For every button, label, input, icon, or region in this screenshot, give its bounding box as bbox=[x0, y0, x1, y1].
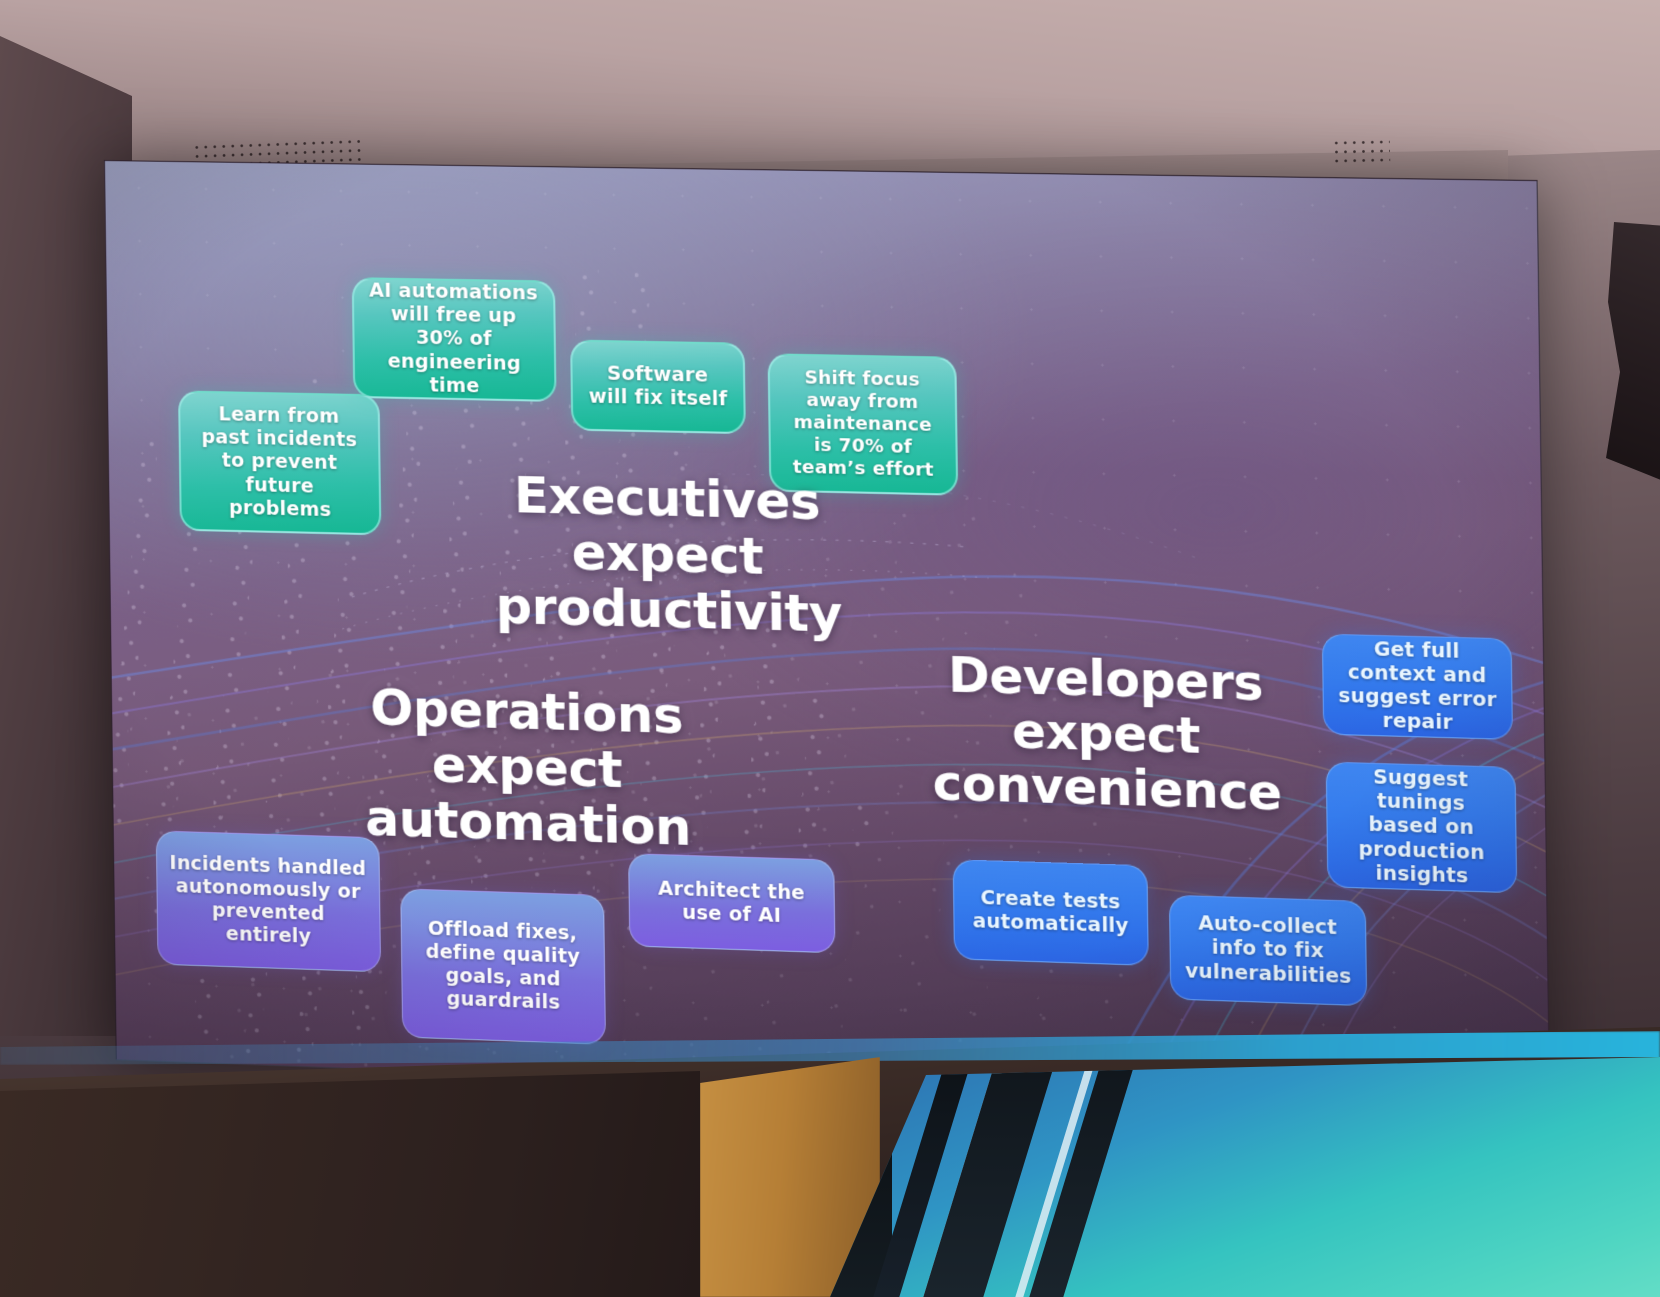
bubble-suggest-tunings-based-on-production-insights: Suggest tunings based on production insi… bbox=[1326, 762, 1518, 894]
heading-line-2: convenience bbox=[918, 756, 1297, 821]
bubble-text: Shift focus away from maintenance is 70%… bbox=[782, 367, 943, 482]
projection-screen: Learn from past incidents to prevent fut… bbox=[104, 160, 1550, 1113]
bubble-text: Create tests automatically bbox=[967, 886, 1135, 939]
bubble-create-tests-automatically: Create tests automatically bbox=[953, 859, 1149, 966]
bubble-incidents-handled-autonomously: Incidents handled autonomously or preven… bbox=[156, 830, 381, 972]
heading-operations: Operations expect automation bbox=[313, 678, 744, 857]
bubble-get-full-context-and-suggest-error-repair: Get full context and suggest error repai… bbox=[1322, 634, 1513, 740]
photo-scene: Learn from past incidents to prevent fut… bbox=[0, 0, 1660, 1297]
bubble-text: Architect the use of AI bbox=[642, 877, 822, 930]
bubble-text: Software will fix itself bbox=[585, 362, 731, 412]
heading-line-2: productivity bbox=[453, 577, 885, 644]
bubble-offload-fixes-define-quality: Offload fixes, define quality goals, and… bbox=[400, 888, 606, 1044]
bubble-text: Get full context and suggest error repai… bbox=[1336, 637, 1499, 737]
bubble-learn-from-past-incidents: Learn from past incidents to prevent fut… bbox=[178, 390, 381, 535]
bubble-software-will-fix-itself: Software will fix itself bbox=[570, 339, 746, 434]
heading-developers: Developers expect convenience bbox=[917, 648, 1297, 821]
heading-line-1: Executives expect bbox=[452, 466, 885, 587]
lower-display-panel bbox=[830, 1057, 1660, 1297]
bubble-architect-the-use-of-ai: Architect the use of AI bbox=[628, 853, 835, 953]
heading-line-1: Developers expect bbox=[917, 648, 1297, 767]
heading-line-1: Operations expect bbox=[313, 678, 743, 801]
bubble-text: Learn from past incidents to prevent fut… bbox=[192, 403, 367, 523]
ceiling-vent-grille bbox=[1332, 137, 1391, 166]
bubble-text: Suggest tunings based on production insi… bbox=[1340, 765, 1504, 890]
bubble-ai-automations-free-up-30: AI automations will free up 30% of engin… bbox=[352, 277, 557, 402]
bubble-text: Auto-collect info to fix vulnerabilities bbox=[1183, 912, 1353, 989]
bubble-text: Offload fixes, define quality goals, and… bbox=[414, 917, 593, 1017]
bubble-auto-collect-info-to-fix-vulnerabilities: Auto-collect info to fix vulnerabilities bbox=[1169, 895, 1367, 1007]
slide-surface: Learn from past incidents to prevent fut… bbox=[104, 160, 1550, 1113]
bubble-text: Incidents handled autonomously or preven… bbox=[169, 852, 368, 952]
bubble-text: AI automations will free up 30% of engin… bbox=[366, 279, 542, 399]
heading-executives: Executives expect productivity bbox=[452, 466, 886, 644]
